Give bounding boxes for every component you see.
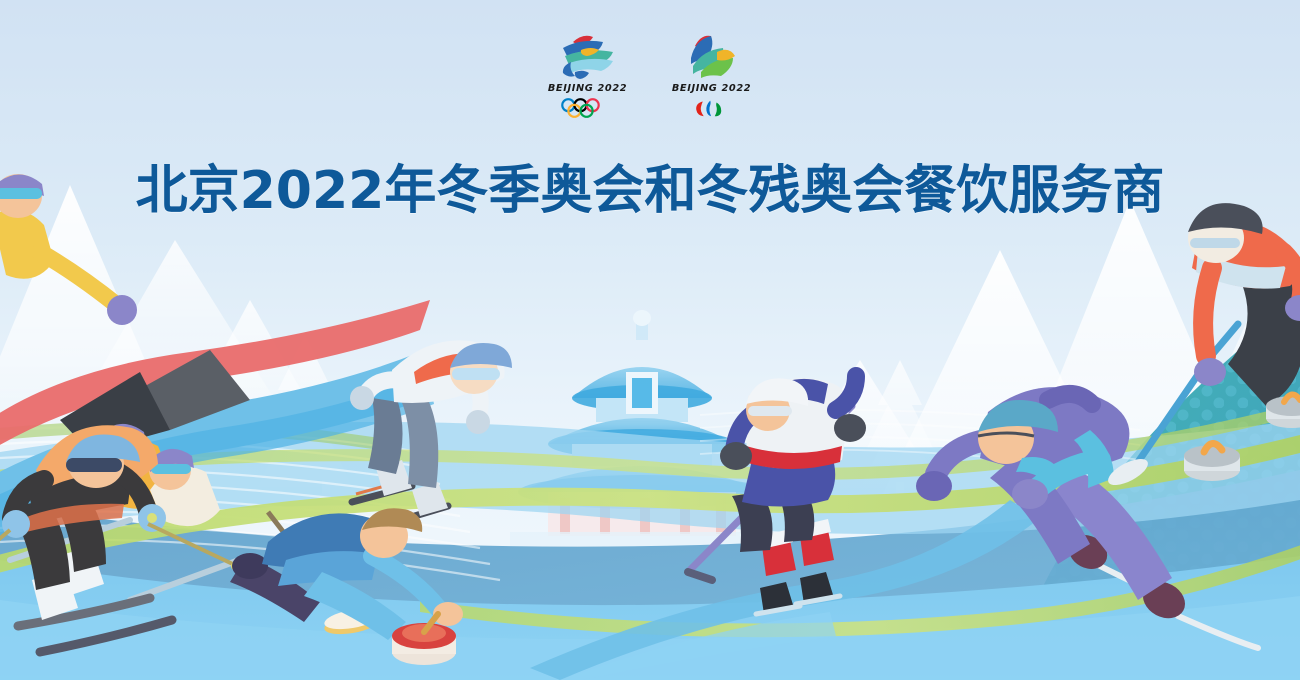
emblem-row: BEIJING 2022 BEIJING 2022 <box>0 30 1300 119</box>
speed-skater <box>916 387 1258 648</box>
beijing-2022-olympic-emblem-icon <box>547 30 629 80</box>
short-track-speed-skater <box>350 340 512 524</box>
paralympic-emblem-block: BEIJING 2022 <box>671 30 753 119</box>
page-title: 北京2022年冬季奥会和冬残奥会餐饮服务商 <box>0 148 1300 223</box>
olympic-wordmark: BEIJING 2022 <box>548 83 627 94</box>
paralympic-agitos-icon <box>688 97 736 119</box>
olympic-emblem-block: BEIJING 2022 <box>547 30 629 119</box>
paralympic-wordmark: BEIJING 2022 <box>672 83 751 94</box>
beijing-2022-paralympic-emblem-icon <box>671 30 753 80</box>
olympic-rings-icon <box>557 97 619 119</box>
olympic-banner: BEIJING 2022 BEIJING 2022 <box>0 0 1300 680</box>
curling-stones <box>1184 394 1300 481</box>
curler-delivering-stone <box>230 508 463 665</box>
ice-hockey-player <box>688 376 866 614</box>
